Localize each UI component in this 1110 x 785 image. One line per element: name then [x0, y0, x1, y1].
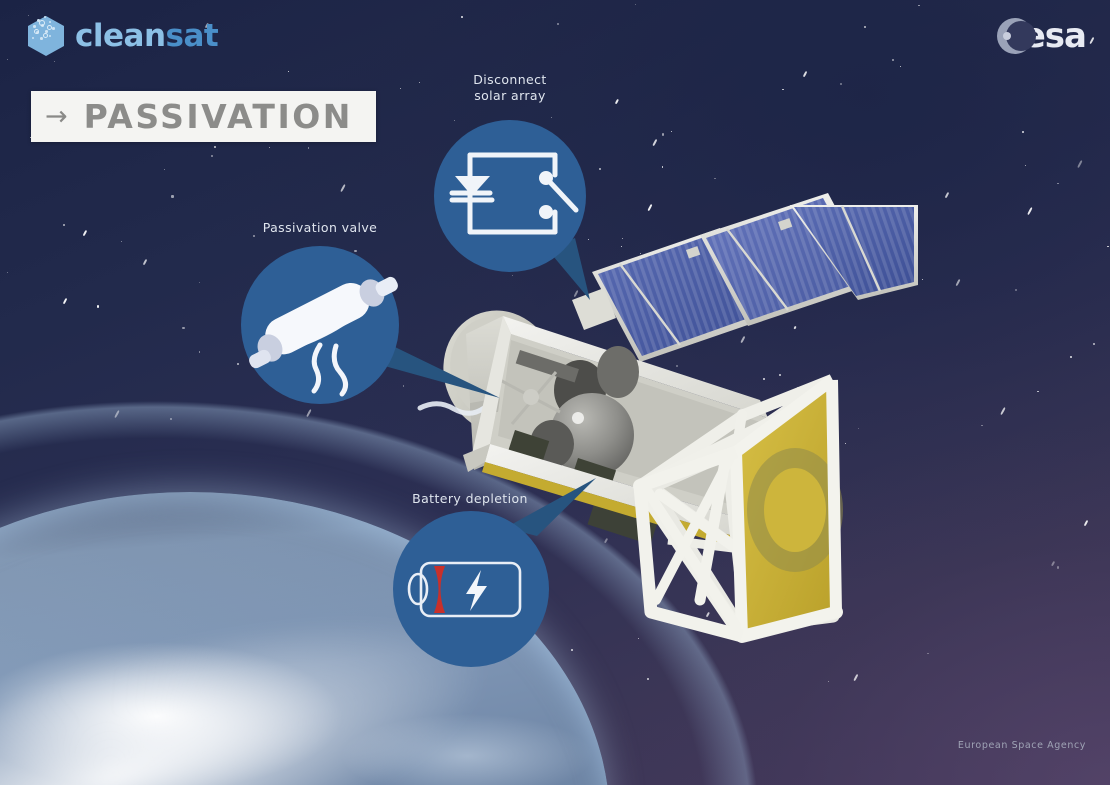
esa-logo[interactable]: esa [997, 18, 1086, 54]
page-title-banner: → PASSIVATION [31, 91, 376, 142]
arrow-right-icon: → [45, 103, 68, 130]
cleansat-wordmark: cleansat [75, 21, 218, 52]
logo-text-clean: clean [75, 18, 166, 54]
page-title: PASSIVATION [84, 100, 353, 133]
cleansat-logo[interactable]: cleansat [28, 16, 218, 56]
logo-text-sat: sat [166, 18, 219, 54]
credit-text: European Space Agency [958, 740, 1086, 751]
esa-crescent-icon [997, 18, 1033, 54]
callout-label-battery-depletion: Battery depletion [390, 491, 550, 507]
infographic-canvas: Disconnect solar array Passivation valve [0, 0, 1110, 785]
cleansat-hex-icon [28, 16, 64, 56]
